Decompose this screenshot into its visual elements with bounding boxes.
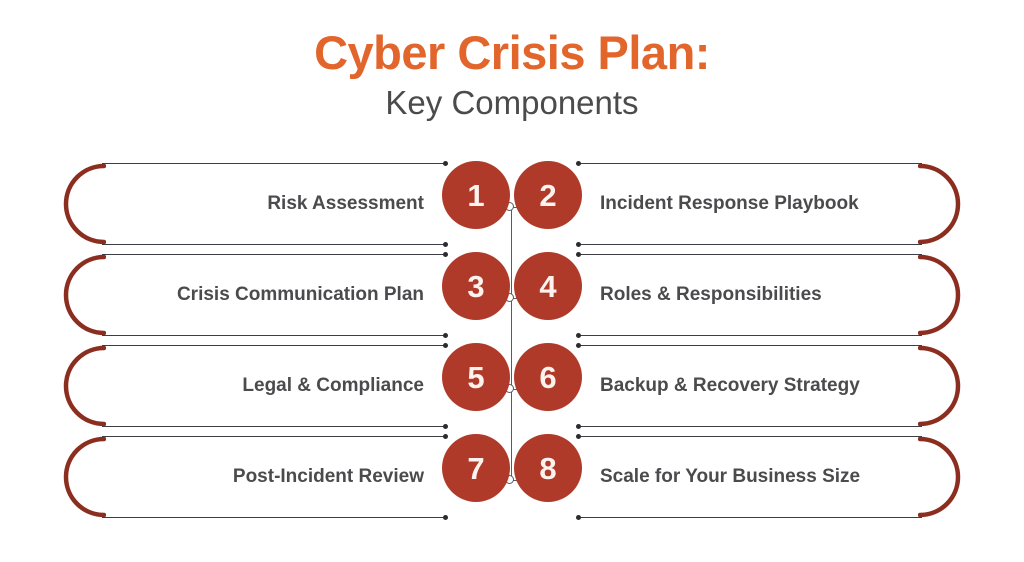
bracket-rail-bottom <box>578 517 922 518</box>
component-label: Backup & Recovery Strategy <box>600 373 908 399</box>
component-item-5[interactable]: Legal & Compliance 5 <box>62 340 482 432</box>
component-item-3[interactable]: Crisis Communication Plan 3 <box>62 249 482 341</box>
rail-dot-icon <box>443 242 448 247</box>
components-diagram: Risk Assessment 1 Incident Response Play… <box>0 158 1024 538</box>
bracket-rail-bottom <box>578 244 922 245</box>
bracket-arc-icon <box>62 254 106 336</box>
bracket-rail-bottom <box>102 335 446 336</box>
component-label: Incident Response Playbook <box>600 191 908 217</box>
bracket-rail-top <box>578 345 922 346</box>
bracket-arc-icon <box>918 254 962 336</box>
title-main: Cyber Crisis Plan: <box>0 26 1024 80</box>
component-number-badge: 1 <box>442 161 510 229</box>
rail-dot-icon <box>443 161 448 166</box>
component-number-badge: 4 <box>514 252 582 320</box>
component-item-2[interactable]: Incident Response Playbook 2 <box>542 158 962 250</box>
rail-dot-icon <box>576 252 581 257</box>
diagram-row: Post-Incident Review 7 Scale for Your Bu… <box>0 431 1024 523</box>
bracket-rail-bottom <box>102 244 446 245</box>
bracket-rail-bottom <box>102 426 446 427</box>
bracket-arc-icon <box>918 163 962 245</box>
bracket-rail-top <box>578 436 922 437</box>
rail-dot-icon <box>443 343 448 348</box>
rail-dot-icon <box>443 515 448 520</box>
rail-dot-icon <box>576 242 581 247</box>
rail-dot-icon <box>576 333 581 338</box>
bracket-rail-top <box>102 436 446 437</box>
bracket-rail-top <box>102 345 446 346</box>
diagram-row: Legal & Compliance 5 Backup & Recovery S… <box>0 340 1024 432</box>
rail-dot-icon <box>576 343 581 348</box>
component-label: Roles & Responsibilities <box>600 282 908 308</box>
infographic-canvas: Cyber Crisis Plan: Key Components Risk A… <box>0 0 1024 562</box>
rail-dot-icon <box>576 515 581 520</box>
rail-dot-icon <box>443 333 448 338</box>
component-number-badge: 8 <box>514 434 582 502</box>
component-number-badge: 2 <box>514 161 582 229</box>
diagram-row: Risk Assessment 1 Incident Response Play… <box>0 158 1024 250</box>
component-item-6[interactable]: Backup & Recovery Strategy 6 <box>542 340 962 432</box>
bracket-arc-icon <box>62 345 106 427</box>
rail-dot-icon <box>443 424 448 429</box>
component-label: Risk Assessment <box>116 191 424 217</box>
component-number-badge: 5 <box>442 343 510 411</box>
bracket-rail-top <box>102 163 446 164</box>
bracket-arc-icon <box>918 345 962 427</box>
bracket-rail-bottom <box>578 426 922 427</box>
component-label: Legal & Compliance <box>116 373 424 399</box>
bracket-rail-top <box>102 254 446 255</box>
bracket-arc-icon <box>62 436 106 518</box>
component-item-4[interactable]: Roles & Responsibilities 4 <box>542 249 962 341</box>
bracket-rail-bottom <box>578 335 922 336</box>
component-item-8[interactable]: Scale for Your Business Size 8 <box>542 431 962 523</box>
component-number-badge: 6 <box>514 343 582 411</box>
bracket-rail-bottom <box>102 517 446 518</box>
bracket-rail-top <box>578 163 922 164</box>
bracket-rail-top <box>578 254 922 255</box>
bracket-arc-icon <box>62 163 106 245</box>
bracket-arc-icon <box>918 436 962 518</box>
rail-dot-icon <box>576 161 581 166</box>
component-item-1[interactable]: Risk Assessment 1 <box>62 158 482 250</box>
rail-dot-icon <box>443 252 448 257</box>
page-title: Cyber Crisis Plan: Key Components <box>0 26 1024 122</box>
rail-dot-icon <box>443 434 448 439</box>
rail-dot-icon <box>576 424 581 429</box>
component-label: Crisis Communication Plan <box>116 282 424 308</box>
title-subtitle: Key Components <box>0 84 1024 122</box>
rail-dot-icon <box>576 434 581 439</box>
component-number-badge: 7 <box>442 434 510 502</box>
component-item-7[interactable]: Post-Incident Review 7 <box>62 431 482 523</box>
component-number-badge: 3 <box>442 252 510 320</box>
component-label: Scale for Your Business Size <box>600 464 908 490</box>
diagram-row: Crisis Communication Plan 3 Roles & Resp… <box>0 249 1024 341</box>
component-label: Post-Incident Review <box>116 464 424 490</box>
